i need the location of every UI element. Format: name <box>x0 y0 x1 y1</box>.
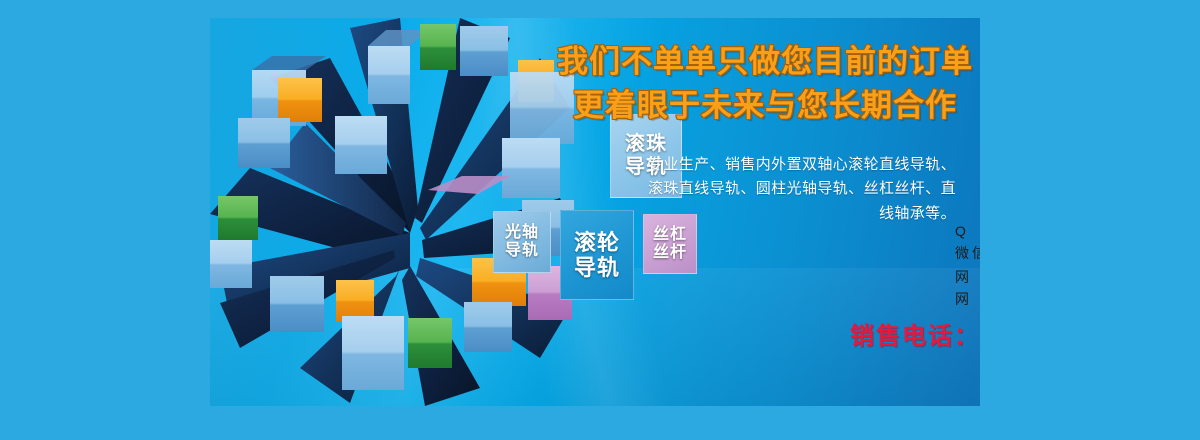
contact-row-website-1: 网 址 ： Www.Zxdgzc.Com <box>955 266 980 288</box>
headline-line-2: 更着眼于未来与您长期合作 <box>550 84 980 128</box>
banner-panel: 滚珠 导轨 光轴 导轨 滚轮 导轨 丝杠 丝杆 我们不单单只做您目前的订单 更着… <box>210 18 980 406</box>
label-cube-guangzhou-daogui[interactable]: 光轴 导轨 <box>493 211 551 273</box>
contact-row-wechat: 微信号 ： zxdgzc （直线导轨轴承） <box>955 242 980 266</box>
contact-row-website-2: 网 址 ： Www.Cnzxdg.Com <box>955 288 980 310</box>
subcopy-paragraph: 专业生产、销售内外置双轴心滚轮直线导轨、 滚珠直线导轨、圆柱光轴导轨、丝杠丝杆、… <box>574 153 956 226</box>
label-cube-guangzhou-line2: 导轨 <box>505 242 539 260</box>
headline: 我们不单单只做您目前的订单 更着眼于未来与您长期合作 <box>550 40 980 128</box>
headline-line-1: 我们不单单只做您目前的订单 <box>550 40 980 84</box>
contact-label-qq: Q Q <box>955 220 980 242</box>
subcopy-line-2: 滚珠直线导轨、圆柱光轴导轨、丝杠丝杆、直 <box>574 177 956 201</box>
label-cube-guangzhou-line1: 光轴 <box>505 224 539 242</box>
contact-label-website-2: 网 址 <box>955 288 980 310</box>
contact-list: Q Q ： 80286553 微信号 ： zxdgzc （直线导轨轴承） 网 址… <box>955 220 980 310</box>
copy-block: 我们不单单只做您目前的订单 更着眼于未来与您长期合作 专业生产、销售内外置双轴心… <box>550 18 980 406</box>
contact-label-wechat: 微信号 <box>955 242 980 264</box>
sales-phone-label: 销售电话： <box>850 323 980 350</box>
subcopy-line-1: 专业生产、销售内外置双轴心滚轮直线导轨、 <box>574 153 956 177</box>
contact-label-website-1: 网 址 <box>955 266 980 288</box>
subcopy-line-3: 线轴承等。 <box>574 202 956 226</box>
banner-page: 滚珠 导轨 光轴 导轨 滚轮 导轨 丝杠 丝杆 我们不单单只做您目前的订单 更着… <box>0 0 1200 440</box>
contact-row-qq: Q Q ： 80286553 <box>955 220 980 242</box>
sales-phone[interactable]: 销售电话：18357860469 <box>850 316 980 351</box>
